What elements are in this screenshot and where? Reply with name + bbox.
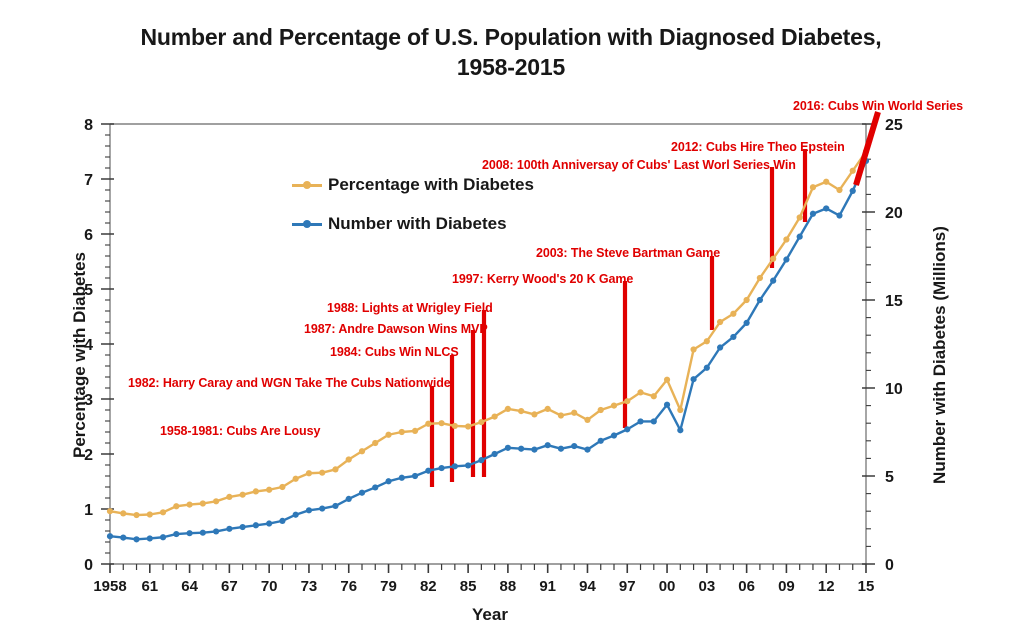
- x-axis-tick-label: 64: [181, 578, 198, 595]
- y-axis-left-tick-label: 7: [84, 172, 93, 189]
- series-data-point: [505, 445, 511, 451]
- y-axis-left-tick-label: 3: [84, 392, 93, 409]
- series-data-point: [783, 256, 789, 262]
- series-data-point: [492, 414, 498, 420]
- series-data-point: [664, 402, 670, 408]
- series-data-point: [571, 443, 577, 449]
- series-data-point: [253, 522, 259, 528]
- series-data-point: [757, 297, 763, 303]
- series-data-point: [664, 377, 670, 383]
- data-series-layer: [107, 148, 869, 542]
- series-data-point: [240, 524, 246, 530]
- series-data-point: [637, 389, 643, 395]
- series-data-point: [465, 462, 471, 468]
- series-data-point: [704, 338, 710, 344]
- series-data-point: [399, 475, 405, 481]
- series-data-point: [584, 417, 590, 423]
- series-data-point: [213, 528, 219, 534]
- series-data-point: [173, 503, 179, 509]
- series-data-point: [465, 423, 471, 429]
- x-axis-tick-label: 67: [221, 578, 238, 595]
- y-axis-right-tick-label: 20: [885, 205, 903, 222]
- series-data-point: [133, 512, 139, 518]
- series-data-point: [200, 530, 206, 536]
- chart-page: Number and Percentage of U.S. Population…: [0, 0, 1022, 632]
- annotation-label: 1987: Andre Dawson Wins MVP: [304, 322, 488, 336]
- x-axis-tick-label: 91: [539, 578, 556, 595]
- series-data-point: [850, 188, 856, 194]
- annotation-label: 2008: 100th Anniversay of Cubs' Last Wor…: [482, 158, 796, 172]
- series-data-point: [531, 411, 537, 417]
- series-data-point: [385, 478, 391, 484]
- series-data-point: [611, 403, 617, 409]
- series-data-point: [359, 448, 365, 454]
- series-data-point: [730, 311, 736, 317]
- series-data-point: [279, 518, 285, 524]
- series-data-point: [492, 451, 498, 457]
- annotation-label: 1988: Lights at Wrigley Field: [327, 301, 493, 315]
- series-data-point: [651, 393, 657, 399]
- series-data-point: [438, 465, 444, 471]
- series-data-point: [677, 407, 683, 413]
- series-data-point: [810, 184, 816, 190]
- series-data-point: [346, 456, 352, 462]
- series-data-point: [744, 320, 750, 326]
- series-data-point: [346, 496, 352, 502]
- series-data-point: [120, 510, 126, 516]
- series-data-point: [770, 278, 776, 284]
- series-line-percentage: [110, 152, 866, 516]
- series-data-point: [412, 428, 418, 434]
- annotation-marker-line-2016: [856, 112, 878, 185]
- series-data-point: [690, 376, 696, 382]
- series-data-point: [531, 447, 537, 453]
- series-data-point: [399, 429, 405, 435]
- series-data-point: [571, 410, 577, 416]
- y-axis-left-tick-label: 6: [84, 227, 93, 244]
- x-axis-tick-label: 85: [460, 578, 477, 595]
- y-axis-left-tick-label: 2: [84, 447, 93, 464]
- series-data-point: [823, 205, 829, 211]
- series-data-point: [120, 535, 126, 541]
- series-data-point: [545, 406, 551, 412]
- series-data-point: [385, 432, 391, 438]
- series-data-point: [452, 423, 458, 429]
- annotation-label: 2016: Cubs Win World Series: [793, 99, 963, 113]
- y-axis-right-tick-label: 25: [885, 117, 903, 134]
- series-data-point: [306, 507, 312, 513]
- series-data-point: [545, 442, 551, 448]
- x-axis-tick-label: 97: [619, 578, 636, 595]
- series-data-point: [558, 412, 564, 418]
- series-data-point: [797, 234, 803, 240]
- x-axis-tick-label: 88: [500, 578, 517, 595]
- series-data-point: [186, 530, 192, 536]
- series-data-point: [558, 446, 564, 452]
- series-data-point: [836, 212, 842, 218]
- series-data-point: [372, 484, 378, 490]
- series-data-point: [757, 275, 763, 281]
- series-data-point: [425, 468, 431, 474]
- y-axis-left-tick-label: 1: [84, 502, 93, 519]
- x-axis-tick-label: 76: [340, 578, 357, 595]
- series-data-point: [319, 505, 325, 511]
- series-data-point: [452, 463, 458, 469]
- series-data-point: [518, 446, 524, 452]
- series-data-point: [505, 406, 511, 412]
- x-axis-tick-label: 73: [301, 578, 318, 595]
- x-axis-tick-label: 79: [380, 578, 397, 595]
- series-data-point: [173, 531, 179, 537]
- y-axis-right-tick-label: 15: [885, 293, 903, 310]
- series-data-point: [810, 211, 816, 217]
- series-data-point: [717, 319, 723, 325]
- annotation-label: 1958-1981: Cubs Are Lousy: [160, 424, 320, 438]
- series-data-point: [160, 534, 166, 540]
- series-data-point: [266, 487, 272, 493]
- series-data-point: [438, 420, 444, 426]
- x-axis-tick-label: 00: [659, 578, 676, 595]
- x-axis-tick-label: 12: [818, 578, 835, 595]
- series-data-point: [133, 536, 139, 542]
- series-data-point: [319, 470, 325, 476]
- axis-layer: 1958616467707376798285889194970003060912…: [84, 117, 903, 595]
- y-axis-left-tick-label: 0: [84, 557, 93, 574]
- x-axis-tick-label: 94: [579, 578, 596, 595]
- series-data-point: [412, 473, 418, 479]
- series-data-point: [213, 498, 219, 504]
- series-data-point: [744, 297, 750, 303]
- x-axis-tick-label: 82: [420, 578, 437, 595]
- annotation-label: 1997: Kerry Wood's 20 K Game: [452, 272, 633, 286]
- series-data-point: [717, 344, 723, 350]
- y-axis-left-tick-label: 8: [84, 117, 93, 134]
- series-data-point: [704, 365, 710, 371]
- series-data-point: [584, 447, 590, 453]
- y-axis-left-tick-label: 5: [84, 282, 93, 299]
- annotation-label: 2012: Cubs Hire Theo Epstein: [671, 140, 845, 154]
- series-data-point: [797, 214, 803, 220]
- annotation-label: 1984: Cubs Win NLCS: [330, 345, 459, 359]
- series-data-point: [226, 494, 232, 500]
- series-data-point: [624, 398, 630, 404]
- series-data-point: [598, 407, 604, 413]
- chart-plot: 1958616467707376798285889194970003060912…: [0, 0, 1022, 632]
- series-data-point: [147, 511, 153, 517]
- series-data-point: [425, 421, 431, 427]
- series-data-point: [200, 500, 206, 506]
- series-data-point: [226, 526, 232, 532]
- x-axis-tick-label: 70: [261, 578, 278, 595]
- series-data-point: [730, 334, 736, 340]
- series-data-point: [823, 179, 829, 185]
- series-data-point: [293, 512, 299, 518]
- x-axis-tick-label: 15: [858, 578, 875, 595]
- series-data-point: [783, 236, 789, 242]
- x-axis-tick-label: 09: [778, 578, 795, 595]
- annotation-label: 1982: Harry Caray and WGN Take The Cubs …: [128, 376, 451, 390]
- series-data-point: [107, 533, 113, 539]
- series-data-point: [253, 488, 259, 494]
- y-axis-right-tick-label: 5: [885, 469, 894, 486]
- annotation-label: 2003: The Steve Bartman Game: [536, 246, 720, 260]
- series-data-point: [372, 440, 378, 446]
- series-data-point: [624, 426, 630, 432]
- series-data-point: [359, 490, 365, 496]
- series-data-point: [147, 535, 153, 541]
- series-data-point: [770, 256, 776, 262]
- x-axis-tick-label: 03: [698, 578, 715, 595]
- series-line-number: [110, 161, 866, 539]
- series-data-point: [836, 187, 842, 193]
- series-data-point: [611, 432, 617, 438]
- series-data-point: [850, 168, 856, 174]
- series-data-point: [293, 476, 299, 482]
- series-data-point: [160, 509, 166, 515]
- series-data-point: [240, 492, 246, 498]
- series-data-point: [332, 503, 338, 509]
- x-axis-tick-label: 1958: [93, 578, 126, 595]
- y-axis-left-tick-label: 4: [84, 337, 93, 354]
- series-data-point: [478, 419, 484, 425]
- series-data-point: [186, 502, 192, 508]
- y-axis-right-tick-label: 10: [885, 381, 903, 398]
- annotation-top-layer: [856, 112, 878, 185]
- x-axis-tick-label: 06: [738, 578, 755, 595]
- series-data-point: [677, 427, 683, 433]
- series-data-point: [279, 484, 285, 490]
- series-data-point: [332, 466, 338, 472]
- series-data-point: [306, 470, 312, 476]
- series-data-point: [518, 408, 524, 414]
- y-axis-right-tick-label: 0: [885, 557, 894, 574]
- series-data-point: [651, 418, 657, 424]
- series-data-point: [107, 508, 113, 514]
- series-data-point: [690, 346, 696, 352]
- series-data-point: [637, 418, 643, 424]
- x-axis-tick-label: 61: [141, 578, 158, 595]
- series-data-point: [266, 520, 272, 526]
- series-data-point: [598, 438, 604, 444]
- series-data-point: [478, 457, 484, 463]
